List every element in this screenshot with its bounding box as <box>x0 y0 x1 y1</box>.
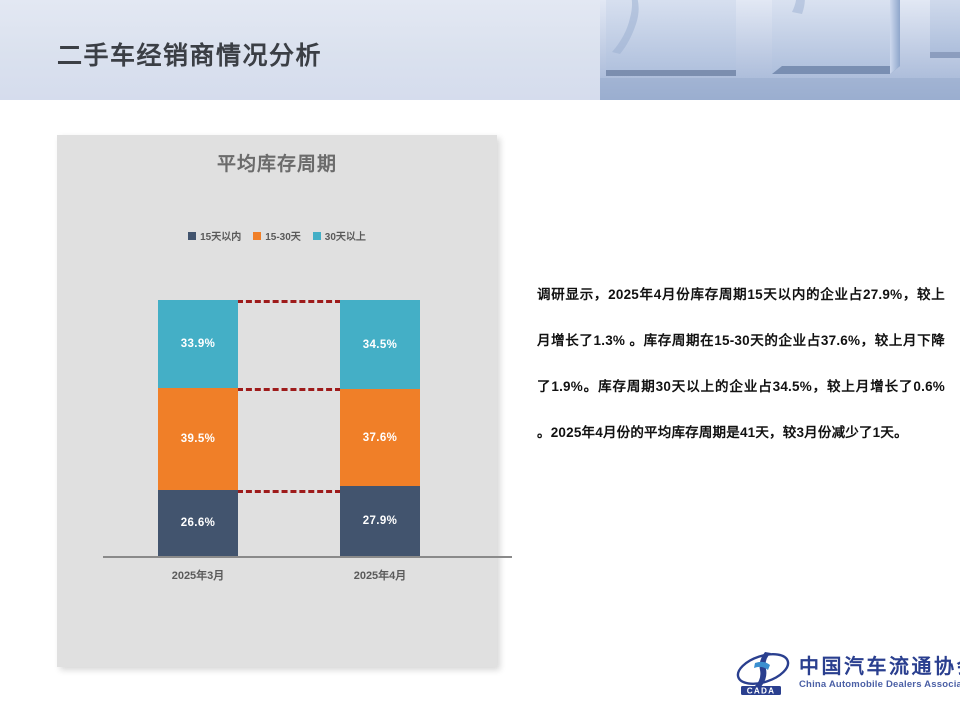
logo-name-cn: 中国汽车流通协会 <box>799 657 960 677</box>
bar-segment-over-30-days[interactable]: 33.9% <box>158 300 238 388</box>
bar-segment-within-15-days[interactable]: 27.9% <box>340 486 420 556</box>
page-title: 二手车经销商情况分析 <box>57 36 322 72</box>
bar-value-label: 26.6% <box>181 517 216 529</box>
bar-segment-15-to-30-days[interactable]: 39.5% <box>158 388 238 490</box>
organization-logo: CADA 中国汽车流通协会 China Automobile Dealers A… <box>735 650 960 696</box>
bar-value-label: 37.6% <box>363 432 398 444</box>
logo-text-block: 中国汽车流通协会 China Automobile Dealers Associ… <box>799 657 960 690</box>
bar-group-2025-04[interactable]: 34.5% 37.6% 27.9% <box>340 300 420 556</box>
chart-axis-line <box>103 556 512 558</box>
bar-segment-over-30-days[interactable]: 34.5% <box>340 300 420 389</box>
bar-segment-15-to-30-days[interactable]: 37.6% <box>340 389 420 486</box>
bar-group-2025-03[interactable]: 33.9% 39.5% 26.6% <box>158 300 238 556</box>
category-label-2025-03: 2025年3月 <box>128 567 268 583</box>
analysis-paragraph: 调研显示，2025年4月份库存周期15天以内的企业占27.9%，较上月增长了1.… <box>537 272 945 456</box>
chart-panel: 平均库存周期 15天以内 15-30天 30天以上 33.9% 39.5% <box>57 135 497 667</box>
connector-line-bottom <box>237 490 341 493</box>
cada-emblem-icon: CADA <box>735 650 791 696</box>
svg-text:CADA: CADA <box>747 686 775 695</box>
chart-plot-area: 33.9% 39.5% 26.6% 34.5% 37.6% 27.9% 2025… <box>57 135 497 667</box>
connector-line-middle <box>237 388 341 391</box>
bar-value-label: 33.9% <box>181 338 216 350</box>
bar-value-label: 39.5% <box>181 433 216 445</box>
bar-value-label: 27.9% <box>363 515 398 527</box>
bar-segment-within-15-days[interactable]: 26.6% <box>158 490 238 556</box>
logo-name-en: China Automobile Dealers Association <box>799 680 960 690</box>
cubes-graphic-icon <box>600 0 960 100</box>
cada-emblem-svg: CADA <box>735 650 791 696</box>
category-label-2025-04: 2025年4月 <box>310 567 450 583</box>
bar-value-label: 34.5% <box>363 339 398 351</box>
connector-line-top <box>237 300 341 303</box>
header-decoration-image <box>600 0 960 100</box>
header-band: 二手车经销商情况分析 <box>0 0 960 100</box>
